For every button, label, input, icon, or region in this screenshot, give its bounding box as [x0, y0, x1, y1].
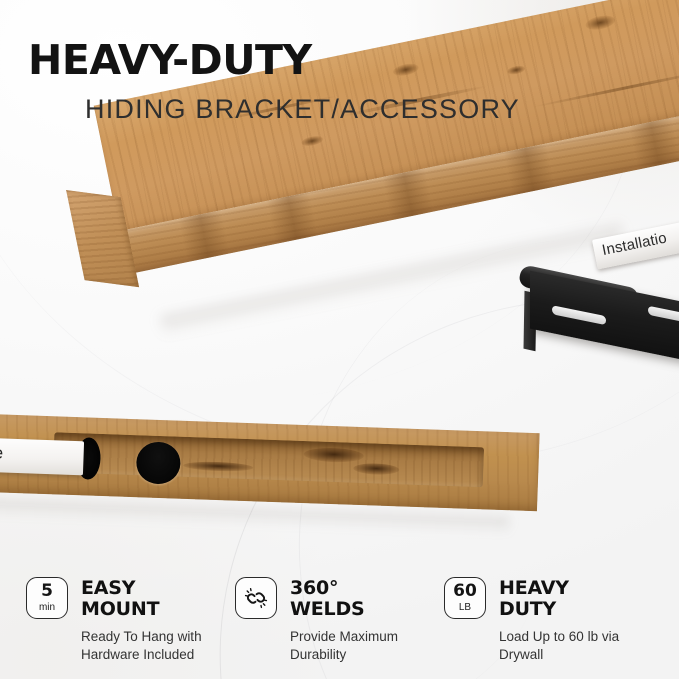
page-title: HEAVY-DUTY — [28, 40, 520, 81]
feature-description: Provide Maximum Durability — [290, 628, 444, 663]
lower-shelf-board: ion hardware — [0, 413, 540, 543]
feature-title: 360° WELDS — [290, 577, 365, 619]
feature-easy-mount: 5 min EASY MOUNT Ready To Hang with Hard… — [26, 577, 235, 663]
feature-title-line1: EASY — [81, 578, 159, 599]
headline-block: HEAVY-DUTY HIDING BRACKET/ACCESSORY — [28, 40, 520, 123]
feature-title-line1: 360° — [290, 578, 365, 599]
feature-title: EASY MOUNT — [81, 577, 159, 619]
product-image-canvas: HEAVY-DUTY HIDING BRACKET/ACCESSORY Inst… — [0, 0, 679, 679]
badge-value: 5 — [41, 583, 53, 600]
shelf-drilled-hole — [136, 441, 181, 485]
feature-description: Ready To Hang with Hardware Included — [81, 628, 235, 663]
feature-360-welds: 360° WELDS Provide Maximum Durability — [235, 577, 444, 663]
feature-title-line2: DUTY — [499, 599, 569, 620]
installation-hardware-card-bottom: ion hardware — [0, 435, 84, 475]
feature-title-line1: HEAVY — [499, 578, 569, 599]
feature-description: Load Up to 60 lb via Drywall — [499, 628, 653, 663]
feature-title-line2: WELDS — [290, 599, 365, 620]
timer-5-min-badge-icon: 5 min — [26, 577, 68, 619]
shelf-routed-channel — [53, 432, 484, 487]
feature-title: HEAVY DUTY — [499, 577, 569, 619]
weight-60-lb-badge-icon: 60 LB — [444, 577, 486, 619]
page-subtitle: HIDING BRACKET/ACCESSORY — [85, 96, 520, 123]
badge-value: 60 — [453, 583, 477, 600]
feature-list: 5 min EASY MOUNT Ready To Hang with Hard… — [0, 577, 679, 663]
bracket-mounting-slot — [648, 306, 679, 326]
feature-title-line2: MOUNT — [81, 599, 159, 620]
badge-unit: min — [39, 602, 55, 613]
bracket-wall-plate — [530, 271, 679, 368]
badge-unit: LB — [459, 602, 471, 613]
shelf-back-face: ion hardware — [0, 413, 540, 511]
chain-link-weld-icon — [235, 577, 277, 619]
feature-heavy-duty: 60 LB HEAVY DUTY Load Up to 60 lb via Dr… — [444, 577, 653, 663]
bracket-mounting-slot — [552, 305, 606, 325]
